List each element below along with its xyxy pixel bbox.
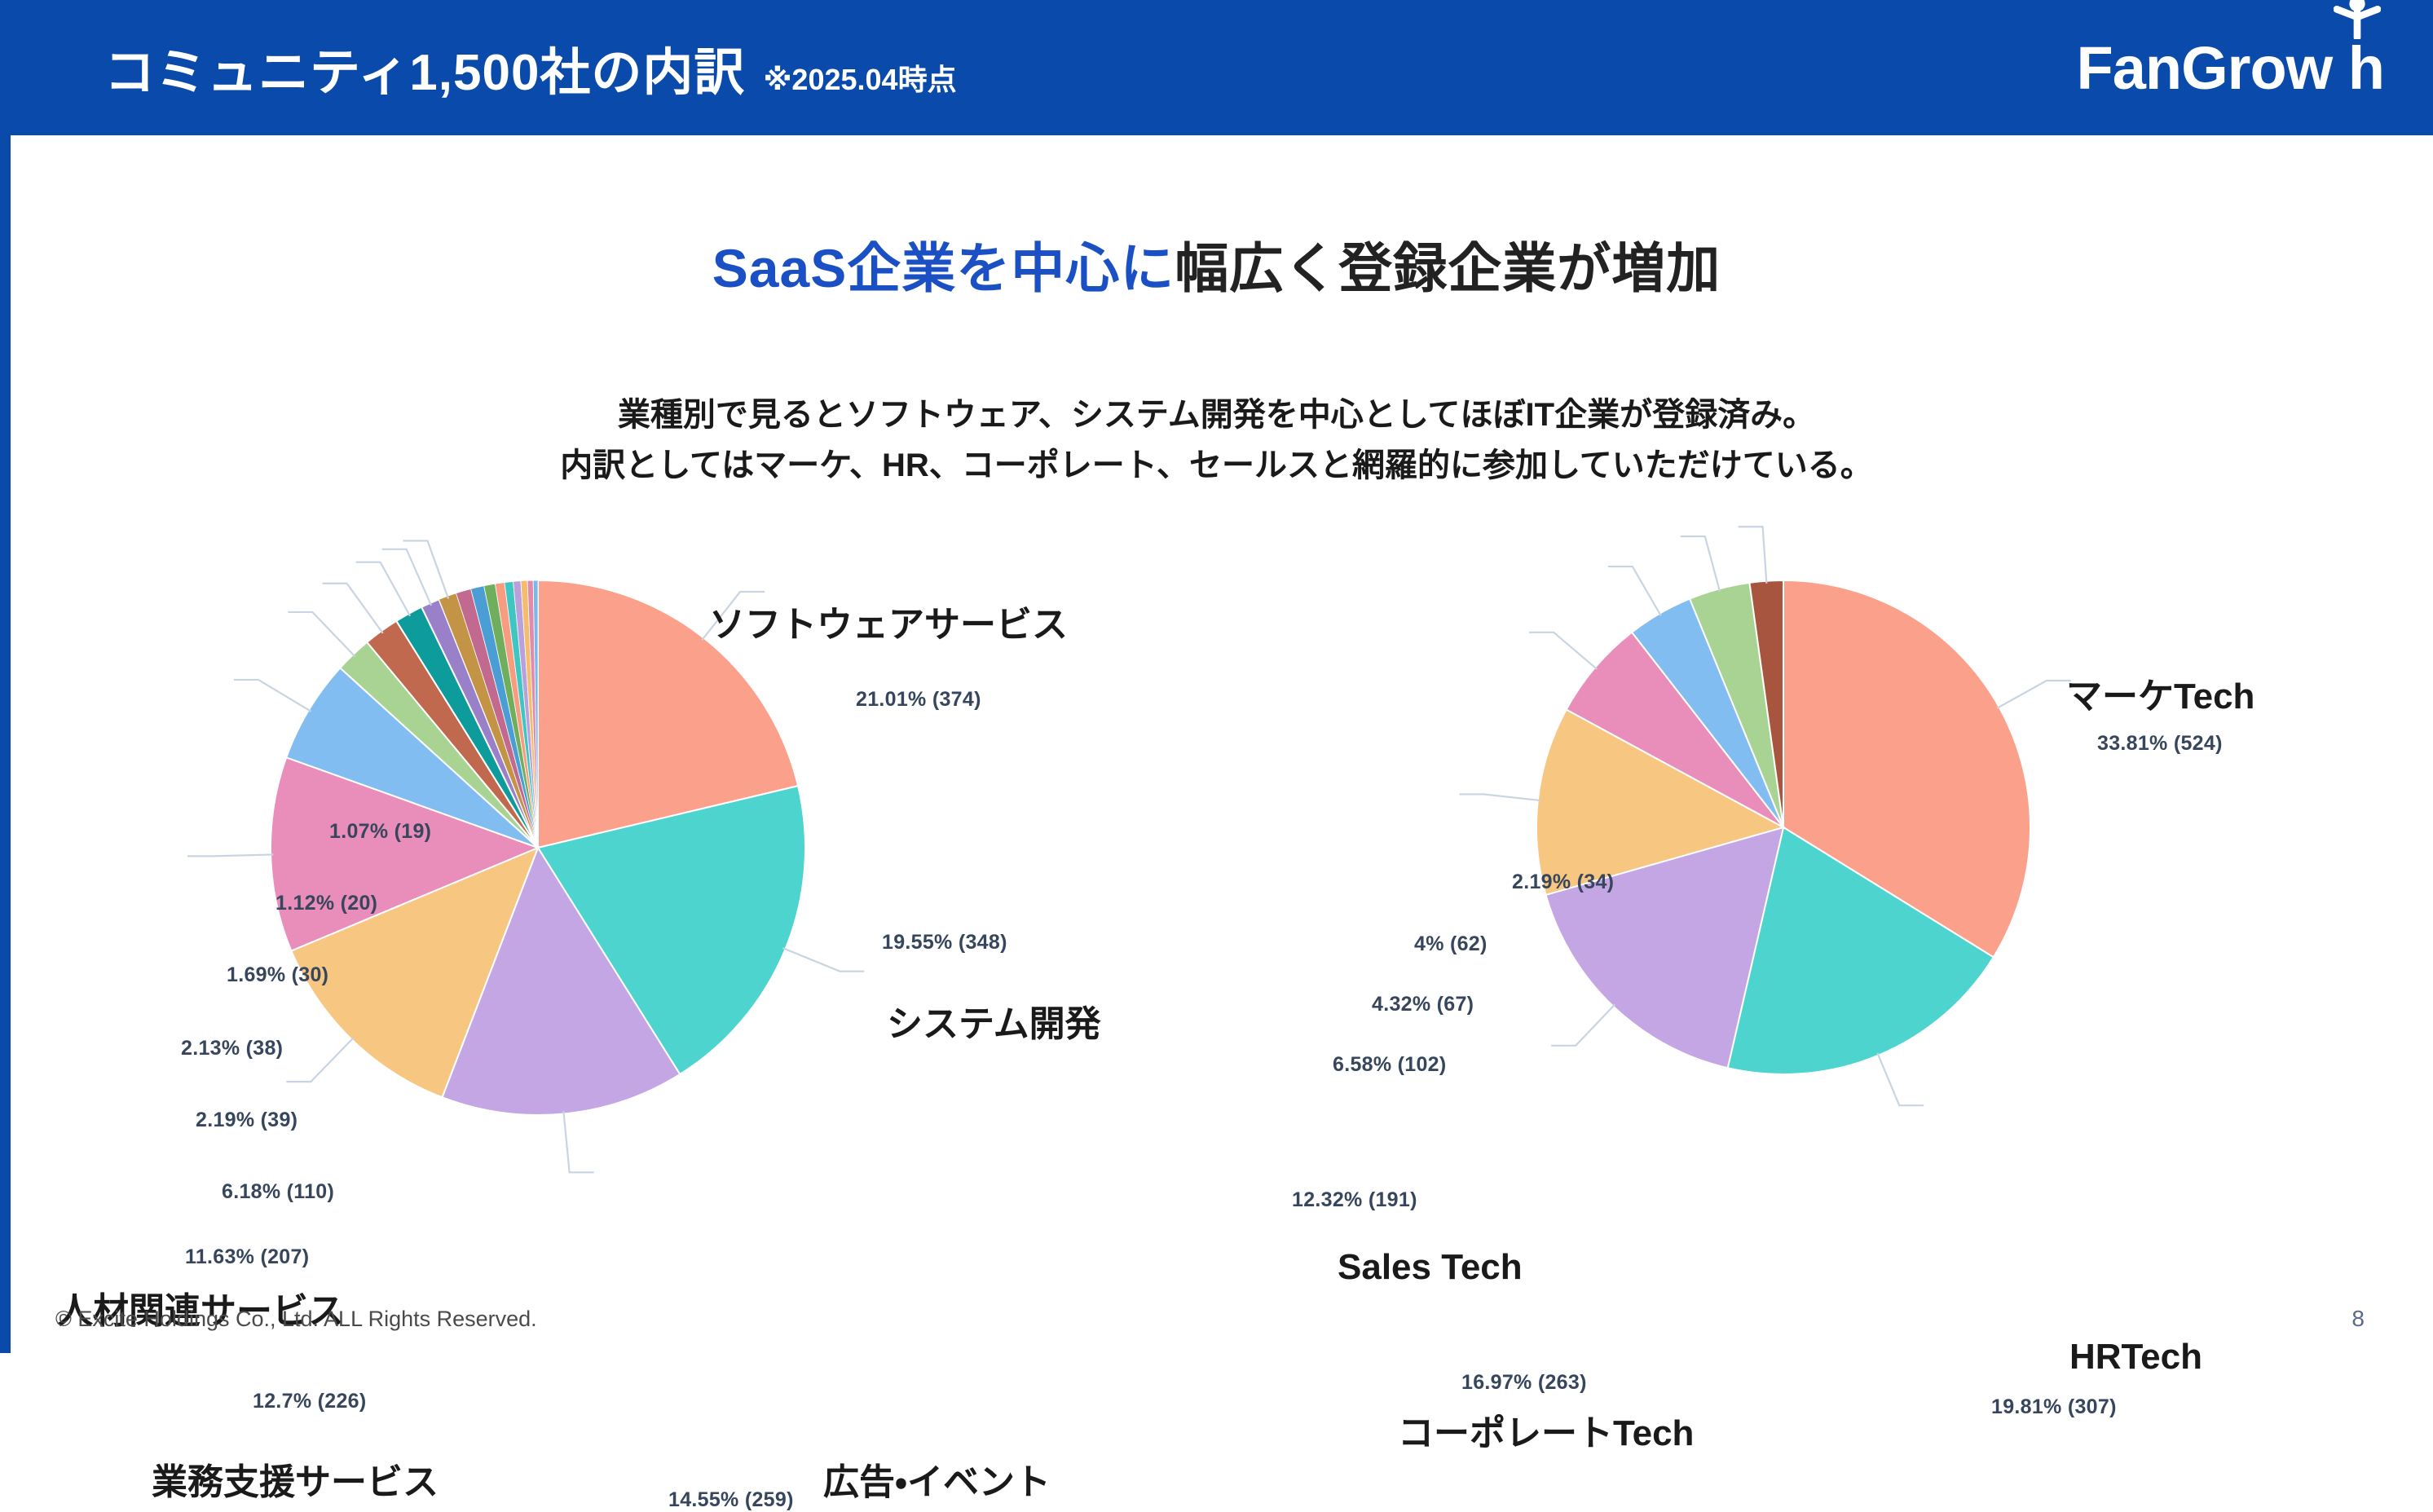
subtitle-line-2: 内訳としてはマーケ、HR、コーポレート、セールスと網羅的に参加していただけている… (0, 440, 2433, 491)
footer-page-number: 8 (2351, 1306, 2365, 1332)
pie-category-label: HRTech (2069, 1337, 2202, 1378)
pie-category-label: システム開発 (887, 994, 1101, 1047)
pie-category-label: Sales Tech (1338, 1247, 1523, 1288)
pie-percent-label: 2.19% (34) (1512, 871, 1614, 894)
pie-percent-label: 1.07% (19) (329, 820, 431, 844)
person-icon (2334, 0, 2381, 39)
pie-industry-svg (269, 579, 807, 1117)
pie-percent-label: 11.63% (207) (185, 1245, 309, 1269)
headline-accent: SaaS企業を中心に (712, 238, 1175, 298)
header-title-group: コミュニティ1,500社の内訳 ※2025.04時点 (0, 31, 957, 104)
header-timestamp-note: ※2025.04時点 (763, 56, 956, 99)
pie-leader-line (563, 1111, 593, 1172)
brand-logo: FanGrow h (2077, 33, 2433, 103)
footer-copyright: © Excite Holdings Co., Ltd. ALL Rights R… (55, 1307, 537, 1332)
pie-percent-label: 1.12% (20) (275, 892, 377, 915)
pie-category-label: マーケTech (2066, 667, 2254, 719)
pie-percent-label: 12.7% (226) (253, 1390, 367, 1413)
pie-percent-label: 6.18% (110) (222, 1180, 334, 1204)
pie-leader-line (187, 854, 273, 856)
chart-industry-breakdown: 21.01% (374)19.55% (348)14.55% (259)12.7… (0, 571, 1216, 1223)
pie-percent-label: 19.55% (348) (882, 931, 1007, 954)
charts-region: 21.01% (374)19.55% (348)14.55% (259)12.7… (0, 571, 2433, 1223)
pie-percent-label: 4% (62) (1414, 932, 1488, 956)
pie-percent-label: 16.97% (263) (1461, 1371, 1587, 1395)
pie-percent-label: 33.81% (524) (2097, 732, 2223, 756)
pie-percent-label: 2.19% (39) (196, 1109, 298, 1132)
subtitle-line-1: 業種別で見るとソフトウェア、システム開発を中心としてほぼIT企業が登録済み。 (0, 390, 2433, 440)
pie-percent-label: 21.01% (374) (856, 688, 981, 712)
pie-percent-label: 2.13% (38) (181, 1037, 283, 1060)
page-title: コミュニティ1,500社の内訳 (104, 31, 745, 104)
chart-tech-category-breakdown: 33.81% (524)19.81% (307)16.97% (263)12.3… (1217, 571, 2433, 1223)
pie-category-label: コーポレートTech (1398, 1404, 1694, 1456)
pie-category-label: 広告・イベント (823, 1452, 1051, 1505)
pie-percent-label: 6.58% (102) (1333, 1053, 1447, 1077)
pie-percent-label: 12.32% (191) (1292, 1188, 1417, 1212)
pie-percent-label: 4.32% (67) (1372, 993, 1474, 1016)
slide-header: コミュニティ1,500社の内訳 ※2025.04時点 FanGrow h (0, 0, 2433, 135)
logo-wordmark: FanGrow h (2077, 33, 2384, 103)
pie-tech-svg (1535, 579, 2032, 1076)
pie-leader-line (1460, 794, 1540, 800)
slide-headline: SaaS企業を中心に幅広く登録企業が増加 (0, 225, 2433, 303)
headline-rest: 幅広く登録企業が増加 (1175, 238, 1721, 298)
pie-leader-line (1739, 527, 1767, 584)
pie-category-label: 業務支援サービス (152, 1452, 439, 1505)
pie-percent-label: 19.81% (307) (1991, 1395, 2117, 1419)
pie-percent-label: 14.55% (259) (668, 1488, 794, 1512)
pie-percent-label: 1.69% (30) (227, 963, 328, 987)
pie-category-label: ソフトウェアサービス (709, 595, 1068, 647)
slide-subtitle: 業種別で見るとソフトウェア、システム開発を中心としてほぼIT企業が登録済み。 内… (0, 390, 2433, 491)
